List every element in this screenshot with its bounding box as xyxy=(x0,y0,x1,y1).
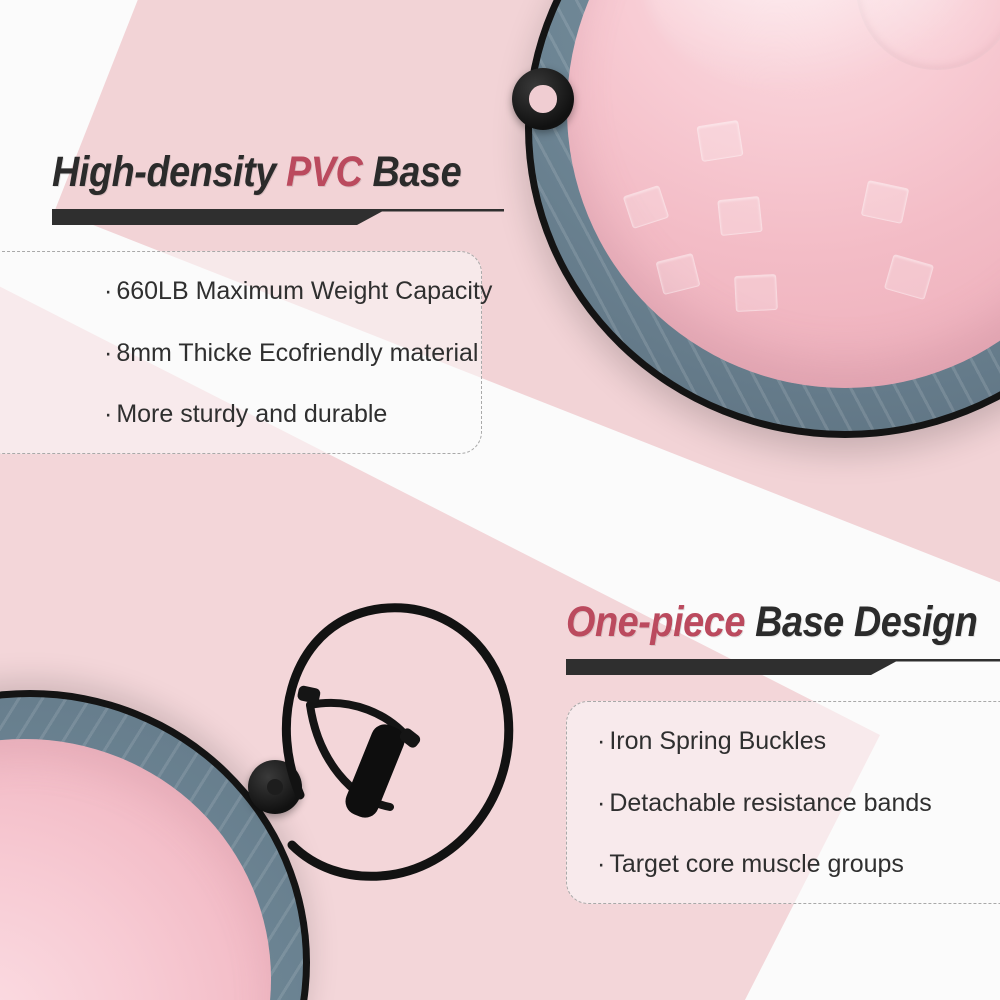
list-item-label: 660LB Maximum Weight Capacity xyxy=(116,277,492,305)
marketing-panel: IFAST SPORT FITNESS xyxy=(0,0,1000,1000)
iron-spring-buckle-top xyxy=(512,68,574,130)
dome-diamond-texture xyxy=(0,777,84,1000)
list-item-label: 8mm Thicke Ecofriendly material xyxy=(116,339,478,367)
headline-part-plain: High-density xyxy=(52,148,276,196)
list-item-label: Target core muscle groups xyxy=(609,850,904,878)
bullet-dot-icon: · xyxy=(104,339,112,367)
handle-crimp-upper xyxy=(297,685,322,704)
headline-part-accent: One-piece xyxy=(566,598,745,646)
headline-part-tail: Base Design xyxy=(755,598,977,646)
bullet-dot-icon: · xyxy=(104,277,112,305)
handle-foam-grip xyxy=(341,720,408,822)
bullet-dot-icon: · xyxy=(597,727,605,755)
list-item-label: More sturdy and durable xyxy=(116,400,387,428)
list-item: ·660LB Maximum Weight Capacity xyxy=(104,278,451,306)
resistance-band-with-handle xyxy=(240,545,560,905)
bullet-dot-icon: · xyxy=(597,850,605,878)
list-item: ·Target core muscle groups xyxy=(597,851,1000,879)
feature-1-divider xyxy=(52,209,517,225)
feature-2-divider xyxy=(566,659,1000,675)
dome-tread-blocks xyxy=(611,109,1000,377)
list-item-label: Iron Spring Buckles xyxy=(609,727,826,755)
divider-shape xyxy=(52,209,504,225)
dome-pink-cap: IFAST SPORT FITNESS xyxy=(567,0,1000,388)
balance-trainer-dome-top-right: IFAST SPORT FITNESS xyxy=(525,0,1000,438)
feature-1-spec-list: ·660LB Maximum Weight Capacity ·8mm Thic… xyxy=(0,251,482,454)
list-item: ·Detachable resistance bands xyxy=(597,790,1000,818)
feature-1-headline: High-density PVC Base xyxy=(52,148,461,197)
headline-part-accent: PVC xyxy=(286,148,362,196)
list-item: ·More sturdy and durable xyxy=(104,401,451,429)
feature-2-headline: One-piece Base Design xyxy=(566,598,1000,647)
feature-high-density-pvc-base: High-density PVC Base ·660LB Maximum Wei… xyxy=(52,148,517,454)
feature-one-piece-base-design: One-piece Base Design ·Iron Spring Buckl… xyxy=(566,598,1000,904)
list-item: ·Iron Spring Buckles xyxy=(597,728,1000,756)
brand-logo-subtext: SPORT FITNESS xyxy=(899,0,975,2)
bullet-dot-icon: · xyxy=(597,789,605,817)
divider-shape xyxy=(566,659,1000,675)
headline-part-tail: Base xyxy=(373,148,462,196)
feature-2-spec-list: ·Iron Spring Buckles ·Detachable resista… xyxy=(566,701,1000,904)
list-item: ·8mm Thicke Ecofriendly material xyxy=(104,340,451,368)
bullet-dot-icon: · xyxy=(104,400,112,428)
list-item-label: Detachable resistance bands xyxy=(609,789,931,817)
